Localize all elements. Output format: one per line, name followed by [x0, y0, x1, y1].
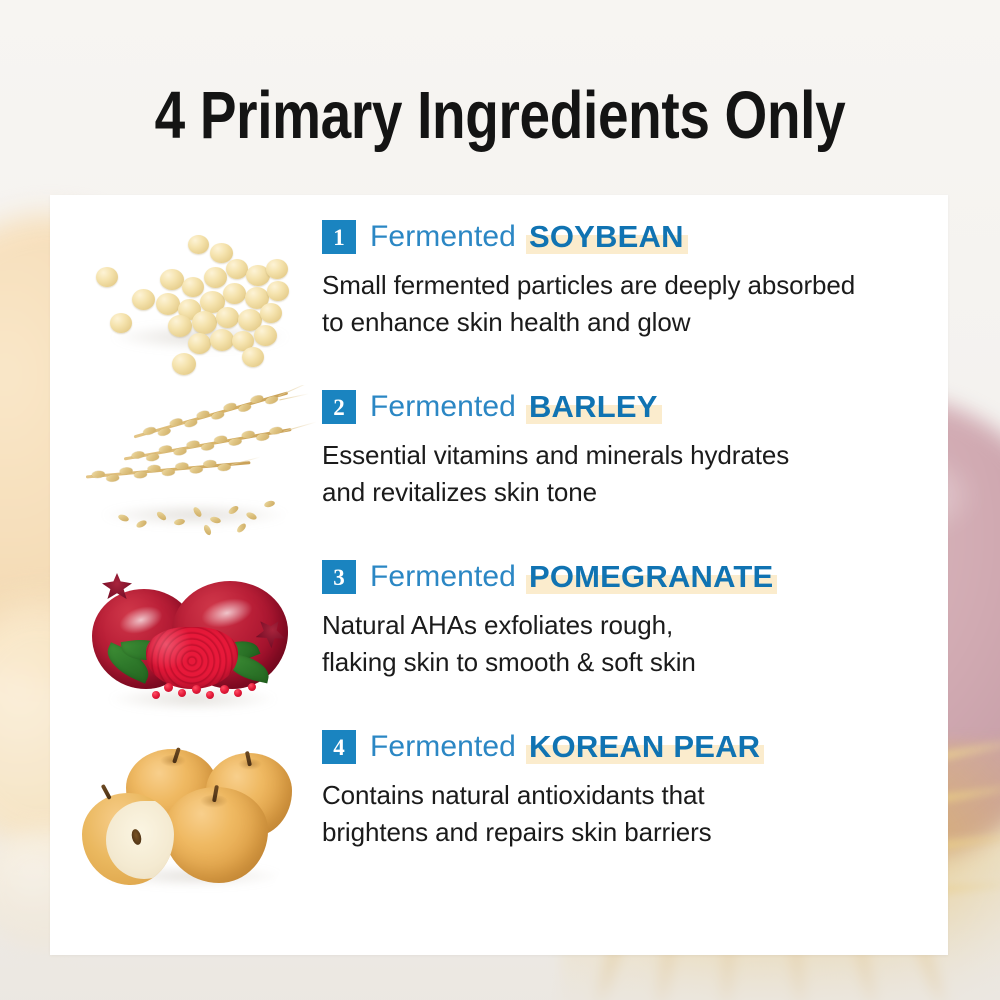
ingredient-heading: 2 Fermented BARLEY	[322, 385, 942, 429]
ingredient-prefix: Fermented	[370, 560, 516, 594]
ingredient-prefix: Fermented	[370, 390, 516, 424]
ingredient-description: Natural AHAs exfoliates rough, flaking s…	[322, 607, 942, 681]
ingredient-text: 4 Fermented KOREAN PEAR Contains natural…	[322, 725, 942, 895]
page-title: 4 Primary Ingredients Only	[90, 72, 910, 158]
ingredient-name: BARLEY	[529, 389, 658, 424]
ingredient-number-badge: 2	[322, 390, 356, 424]
description-line: Natural AHAs exfoliates rough,	[322, 607, 942, 644]
korean-pear-photo	[60, 725, 350, 895]
ingredient-number-badge: 4	[322, 730, 356, 764]
ingredients-card: 1 Fermented SOYBEAN Small fermented part…	[50, 195, 948, 955]
ingredient-name: SOYBEAN	[529, 219, 684, 254]
ingredient-number-badge: 1	[322, 220, 356, 254]
description-line: brightens and repairs skin barriers	[322, 814, 942, 851]
soybeans-photo	[60, 215, 350, 385]
ingredient-name-wrap: SOYBEAN	[529, 219, 684, 255]
ingredient-name: KOREAN PEAR	[529, 729, 760, 764]
description-line: Small fermented particles are deeply abs…	[322, 267, 942, 304]
ingredient-row: 1 Fermented SOYBEAN Small fermented part…	[50, 215, 948, 385]
description-line: and revitalizes skin tone	[322, 474, 942, 511]
ingredient-heading: 4 Fermented KOREAN PEAR	[322, 725, 942, 769]
ingredient-row: 3 Fermented POMEGRANATE Natural AHAs exf…	[50, 555, 948, 725]
ingredient-name: POMEGRANATE	[529, 559, 773, 594]
ingredient-name-wrap: BARLEY	[529, 389, 658, 425]
ingredient-description: Essential vitamins and minerals hydrates…	[322, 437, 942, 511]
ingredient-text: 1 Fermented SOYBEAN Small fermented part…	[322, 215, 942, 385]
ingredient-text: 2 Fermented BARLEY Essential vitamins an…	[322, 385, 942, 555]
ingredient-name-wrap: KOREAN PEAR	[529, 729, 760, 765]
barley-photo	[60, 385, 350, 555]
description-line: Contains natural antioxidants that	[322, 777, 942, 814]
ingredient-description: Small fermented particles are deeply abs…	[322, 267, 942, 341]
ingredient-row: 2 Fermented BARLEY Essential vitamins an…	[50, 385, 948, 555]
ingredient-heading: 3 Fermented POMEGRANATE	[322, 555, 942, 599]
description-line: flaking skin to smooth & soft skin	[322, 644, 942, 681]
ingredient-name-wrap: POMEGRANATE	[529, 559, 773, 595]
ingredient-text: 3 Fermented POMEGRANATE Natural AHAs exf…	[322, 555, 942, 725]
ingredient-prefix: Fermented	[370, 730, 516, 764]
ingredient-number-badge: 3	[322, 560, 356, 594]
description-line: to enhance skin health and glow	[322, 304, 942, 341]
ingredient-heading: 1 Fermented SOYBEAN	[322, 215, 942, 259]
pomegranate-photo	[60, 555, 350, 725]
ingredient-row: 4 Fermented KOREAN PEAR Contains natural…	[50, 725, 948, 895]
ingredient-description: Contains natural antioxidants that brigh…	[322, 777, 942, 851]
description-line: Essential vitamins and minerals hydrates	[322, 437, 942, 474]
ingredient-prefix: Fermented	[370, 220, 516, 254]
